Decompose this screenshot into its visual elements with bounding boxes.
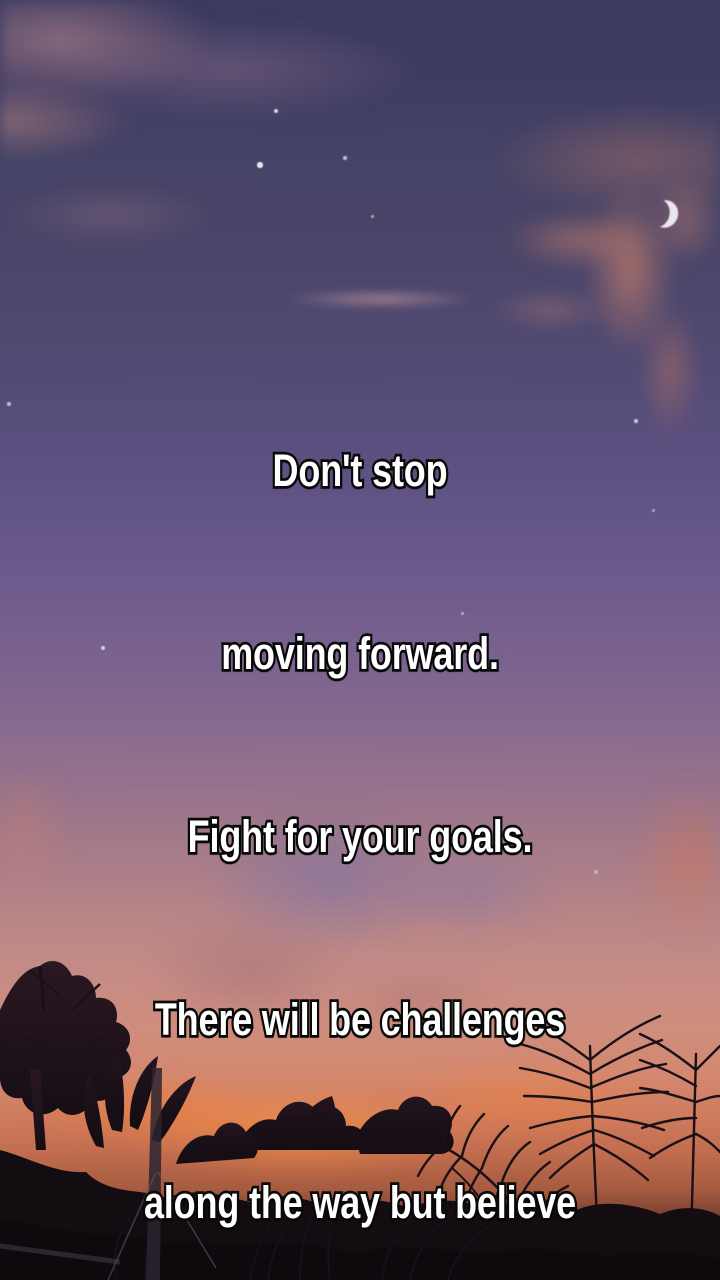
quote-line-2: moving forward. (72, 623, 648, 684)
quote-text-block: Don't stop moving forward. Fight for you… (72, 318, 648, 1280)
quote-line-3: Fight for your goals. (72, 806, 648, 867)
quote-line-4: There will be challenges (72, 989, 648, 1050)
quote-line-5: along the way but believe (72, 1172, 648, 1233)
quote-wallpaper: Don't stop moving forward. Fight for you… (0, 0, 720, 1280)
quote-line-1: Don't stop (72, 440, 648, 501)
